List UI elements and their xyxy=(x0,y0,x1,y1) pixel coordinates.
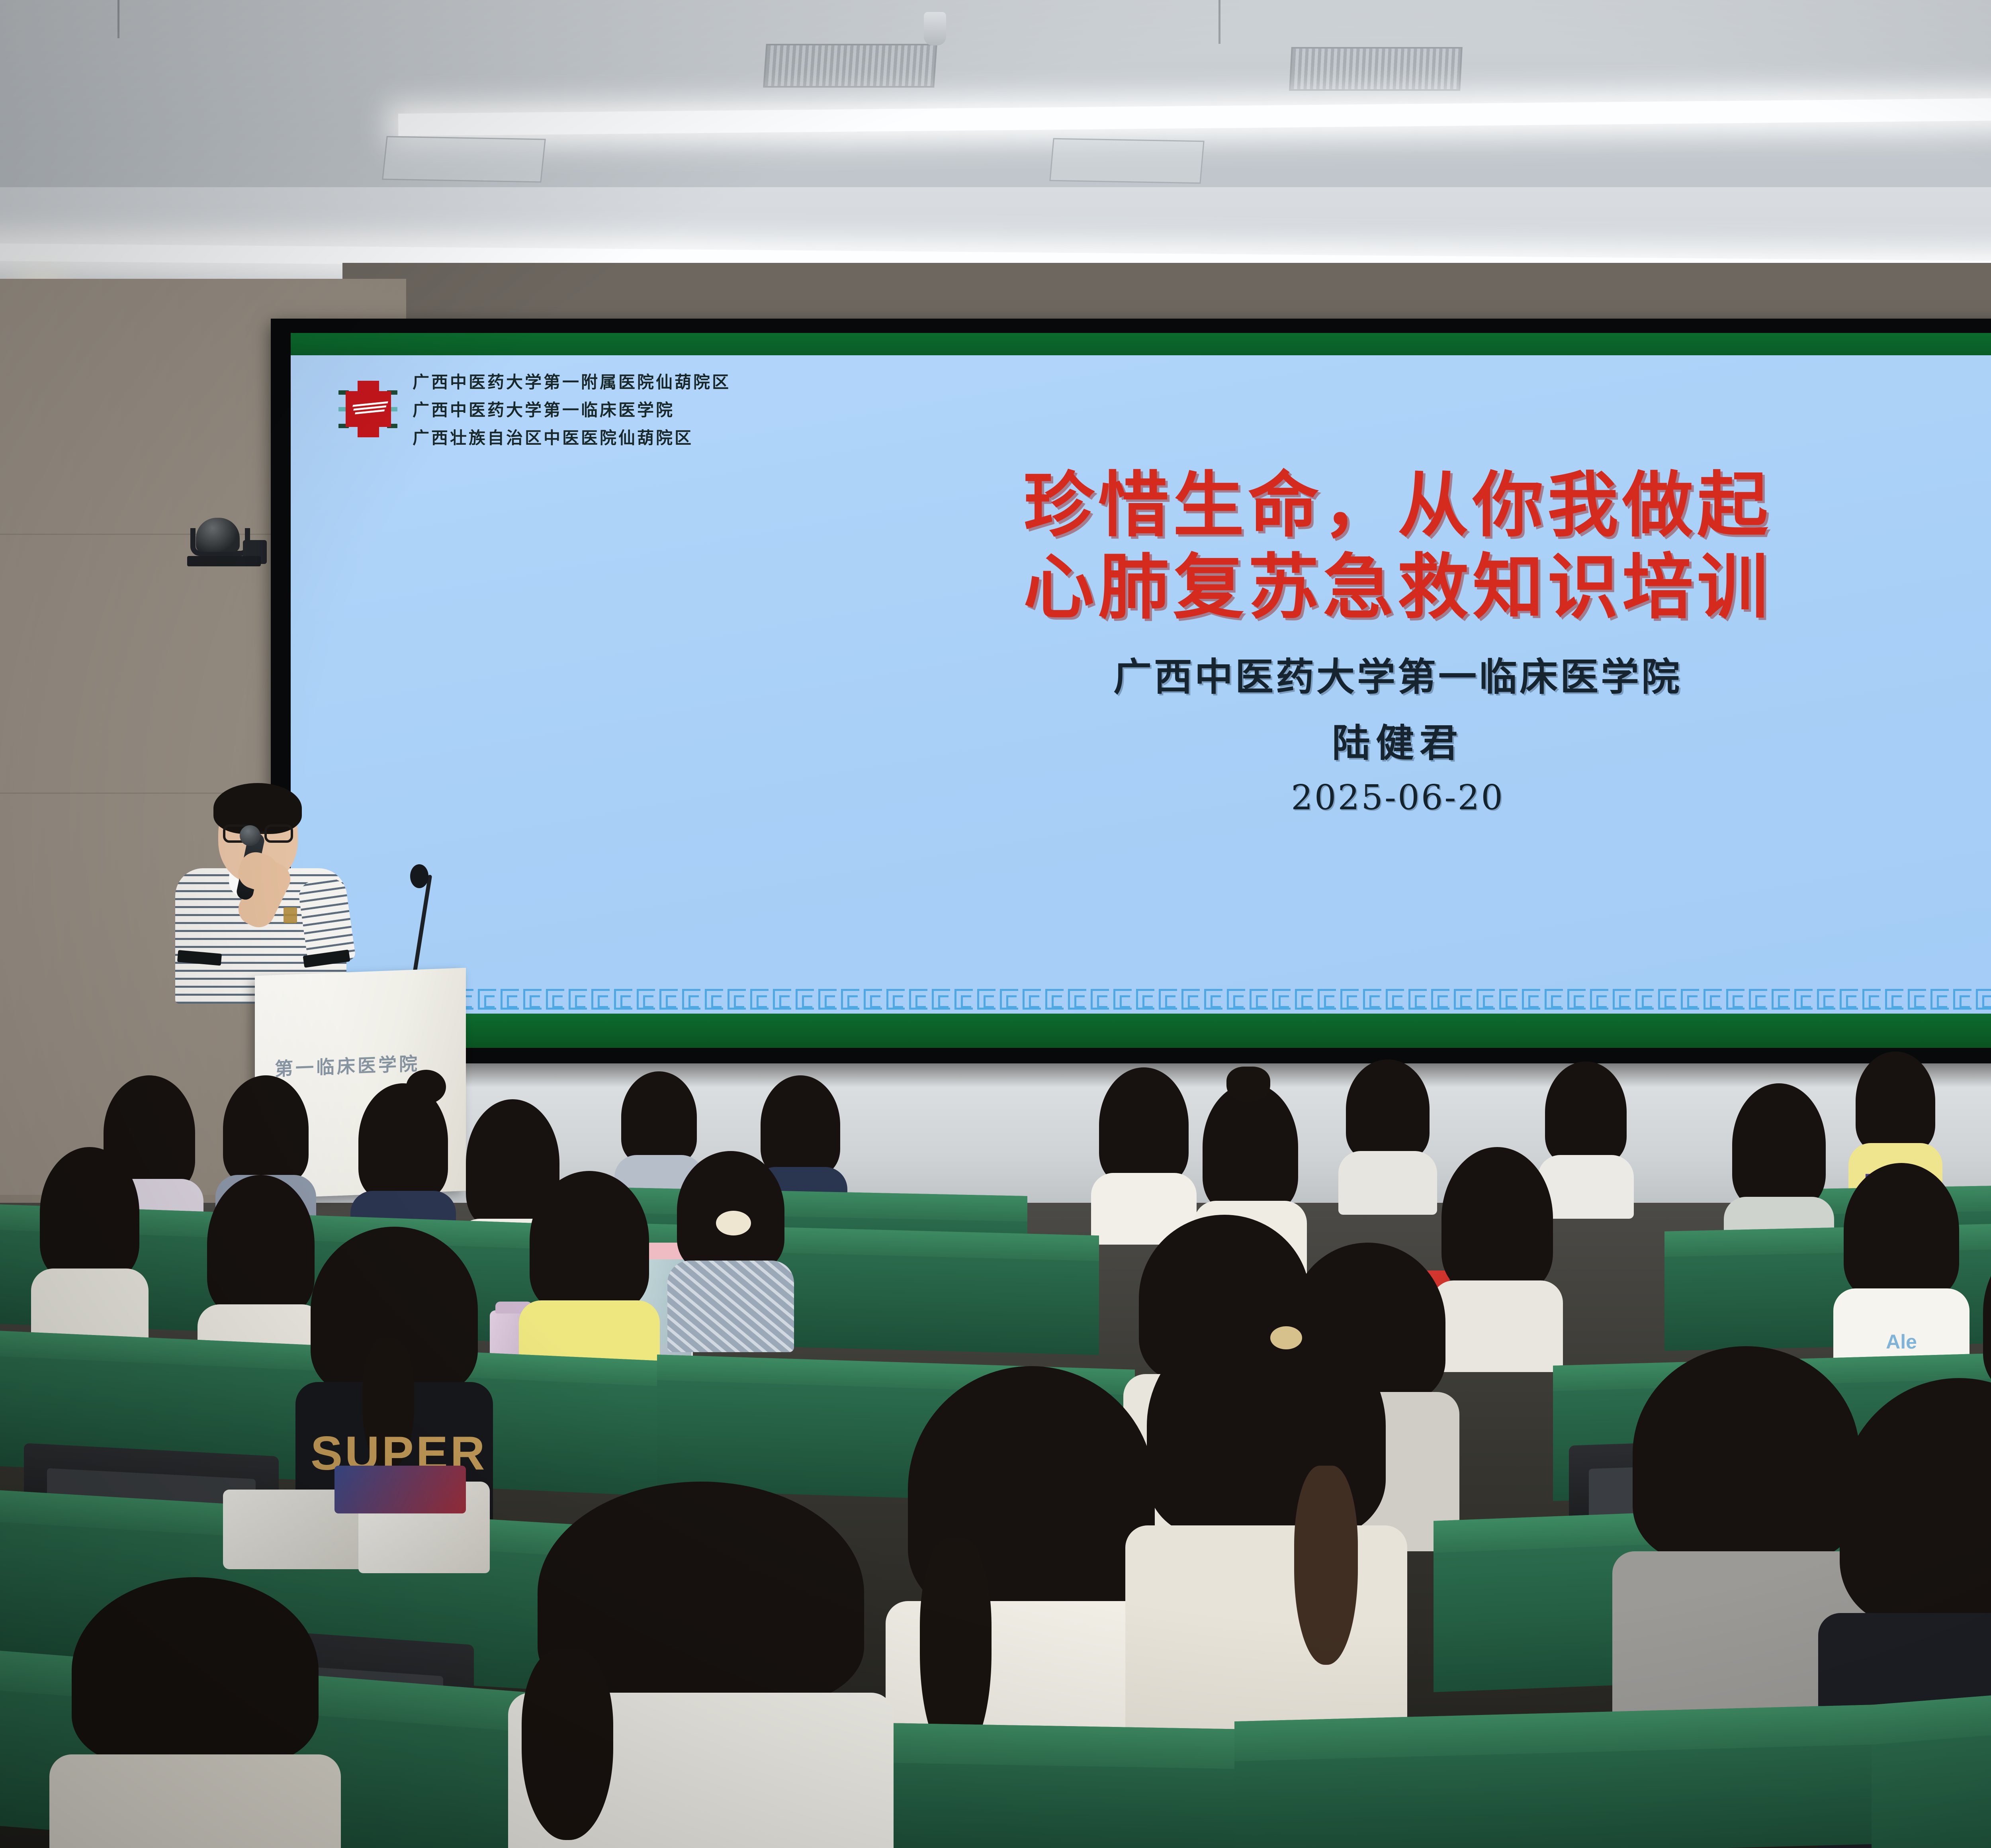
audience-person xyxy=(1346,1059,1430,1199)
organization-names: 广西中医药大学第一附属医院仙葫院区 广西中医药大学第一临床医学院 广西壮族自治区… xyxy=(413,369,731,449)
led-display-screen[interactable]: 广西中医药大学第一附属医院仙葫院区 广西中医药大学第一临床医学院 广西壮族自治区… xyxy=(271,319,1991,1063)
ceiling-wire xyxy=(117,0,119,38)
desk-row xyxy=(1234,1704,1911,1848)
audience-person xyxy=(538,1482,864,1848)
gooseneck-mic-capsule xyxy=(410,864,428,888)
audience-person: Ale xyxy=(1844,1163,1959,1370)
lecture-hall-photo: 广西中医药大学第一附属医院仙葫院区 广西中医药大学第一临床医学院 广西壮族自治区… xyxy=(0,0,1991,1848)
slide-title-line-2: 心肺复苏急救知识培训 xyxy=(291,546,1991,628)
tshirt-label: Ale xyxy=(1844,1330,1959,1353)
camera-base xyxy=(187,556,261,566)
meander-border-pattern xyxy=(291,985,1991,1014)
hospital-red-cross-logo-icon xyxy=(338,379,398,439)
slide-presenter: 陆健君 xyxy=(291,712,1991,767)
slide-bottom-green-bar xyxy=(291,1014,1991,1048)
slide-title-line-1: 珍惜生命，从你我做起 xyxy=(291,464,1991,546)
audience-person xyxy=(1441,1147,1553,1350)
audience-person xyxy=(72,1577,319,1848)
org-line-2: 广西中医药大学第一临床医学院 xyxy=(413,397,731,421)
air-vent xyxy=(1289,47,1463,91)
smoke-detector xyxy=(924,12,946,45)
screen-surface: 广西中医药大学第一附属医院仙葫院区 广西中医药大学第一临床医学院 广西壮族自治区… xyxy=(291,333,1991,1048)
audience-person xyxy=(40,1147,139,1334)
presenter-badge xyxy=(284,907,297,923)
audience-person xyxy=(677,1151,784,1342)
presenter xyxy=(163,781,378,1004)
slide-subtitle: 广西中医药大学第一临床医学院 xyxy=(291,652,1991,703)
audience-person xyxy=(530,1171,649,1378)
slide-title-block: 珍惜生命，从你我做起 心肺复苏急救知识培训 xyxy=(291,464,1991,629)
ceiling-panel xyxy=(1049,138,1204,184)
air-vent xyxy=(763,44,937,88)
audience-person xyxy=(1545,1061,1627,1201)
ceiling-wire xyxy=(1218,0,1220,44)
slide-top-green-bar xyxy=(291,333,1991,355)
ceiling-panel xyxy=(382,136,546,183)
org-line-1: 广西中医药大学第一附属医院仙葫院区 xyxy=(413,369,731,393)
org-line-3: 广西壮族自治区中医医院仙葫院区 xyxy=(413,425,731,449)
ptz-camera-icon xyxy=(187,518,263,577)
slide-date: 2025-06-20 xyxy=(291,778,1991,818)
slide-subtitle-block: 广西中医药大学第一临床医学院 陆健君 2025-06-20 xyxy=(291,652,1991,818)
presentation-slide: 广西中医药大学第一附属医院仙葫院区 广西中医药大学第一临床医学院 广西壮族自治区… xyxy=(291,333,1991,1048)
strap xyxy=(334,1466,466,1513)
hospital-logo-block: 广西中医药大学第一附属医院仙葫院区 广西中医药大学第一临床医学院 广西壮族自治区… xyxy=(338,369,731,449)
audience-person xyxy=(1099,1067,1189,1227)
audience-person xyxy=(1147,1314,1386,1772)
camera-lens xyxy=(196,518,240,552)
